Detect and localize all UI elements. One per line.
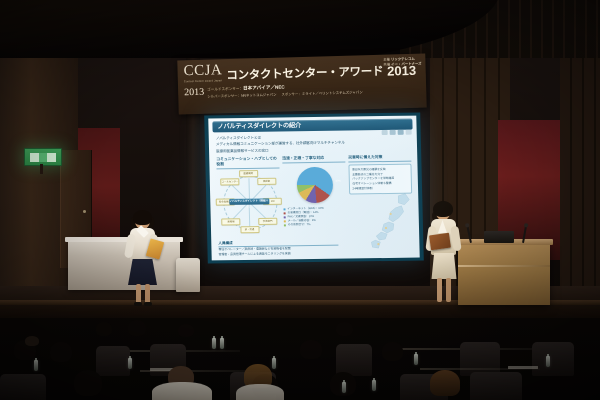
column-heading-chart: 迅速・正確・丁寧な対応 — [282, 155, 345, 163]
hub-node: 薬剤部 — [257, 178, 276, 186]
pie-chart-circle — [296, 167, 333, 203]
presenter-left — [122, 212, 166, 308]
leg-left — [136, 284, 141, 304]
banner-year-small: 2013 — [184, 88, 204, 99]
audience-head-lit — [25, 336, 39, 346]
audience-head — [382, 342, 403, 361]
audience-white-shirt — [152, 382, 212, 400]
slide-lead-text: ノバルティスダイレクトとは メディカル情報コミュニケーション部が運営する、社外顧… — [216, 133, 411, 155]
banner-ccja-subtitle: Contact Center Award Japan — [184, 79, 223, 83]
hub-node: 学術部門 — [258, 218, 277, 226]
column-heading-disaster: 災害時に備えた対策 — [348, 154, 411, 162]
slide-icon-row — [382, 130, 412, 135]
hair — [433, 201, 453, 217]
column-heading-hub: コミュニケーション・ハブとしての役割 — [216, 156, 279, 169]
banner-ccja-logo: CCJA — [183, 63, 222, 79]
water-bottle — [414, 354, 418, 365]
water-bottle — [128, 358, 132, 369]
pie-chart: 60% — [282, 164, 346, 205]
ceiling — [0, 0, 600, 62]
supporter-label-0: 主催 — [383, 58, 390, 62]
exit-sign-mount — [40, 164, 43, 174]
phone-icon — [398, 130, 404, 135]
sponsor-value-1: NNネットコムジャパン — [241, 92, 277, 97]
audience-head — [336, 322, 353, 336]
presenter-right — [424, 202, 468, 306]
hair — [133, 210, 152, 225]
water-bottle — [272, 358, 276, 369]
legend-swatch — [284, 216, 286, 218]
supporter-value-1: イー・パートナーズ — [391, 62, 421, 67]
audience-head — [128, 320, 146, 336]
person-icon — [382, 130, 388, 135]
leg-left — [437, 278, 442, 302]
bottom-line-1: 管理者・品質管理チームによる通話モニタリングを実施 — [219, 251, 339, 258]
handout — [508, 366, 538, 369]
podium-trim — [458, 265, 550, 267]
projection-screen-frame: ノバルティスダイレクトの紹介 ノバルティスダイレクトとは メディカル情報コミュニ… — [204, 113, 424, 264]
audience-area — [0, 318, 600, 400]
auditorium-photo: CCJA Contact Center Award Japan コンタクトセンタ… — [0, 0, 600, 400]
globe-icon — [406, 130, 412, 135]
skirt — [431, 253, 457, 279]
audience-head — [300, 340, 322, 359]
callout-line-4: 24時間受付体制 — [352, 186, 408, 192]
leg-right — [145, 284, 150, 304]
supporter-value-0: リックテレコム — [391, 57, 415, 62]
podium — [458, 243, 550, 305]
audience-hair — [430, 370, 460, 396]
held-folder — [429, 233, 451, 251]
microphone-head — [524, 223, 528, 228]
water-bottle — [212, 338, 216, 349]
shoe-right — [144, 302, 152, 306]
hub-node: 卸・流通 — [240, 226, 259, 234]
sponsor-label-1: シルバースポンサー： — [207, 93, 241, 98]
legend-label: その他問合せ：7% — [288, 223, 311, 227]
legend-swatch — [284, 212, 286, 214]
stage-chair — [176, 258, 200, 292]
water-bottle — [220, 338, 224, 349]
legend-swatch — [283, 208, 285, 210]
supporter-label-1: 共催 — [383, 63, 390, 67]
seat — [460, 342, 500, 376]
pie-main-label: 60% — [336, 179, 341, 182]
leg-right — [446, 278, 451, 302]
podium-equipment-box — [484, 231, 514, 243]
water-bottle — [546, 356, 550, 367]
shoe-left — [134, 302, 142, 306]
pie-main-value: 60% — [336, 179, 341, 182]
legend-swatch — [284, 224, 286, 226]
audience-head — [96, 322, 112, 336]
exit-sign-glyph — [30, 153, 56, 162]
sponsor-label-2: スポンサー： — [281, 92, 301, 97]
hub-center-label: ノバルティスダイレクト（情報ハブ） — [229, 198, 269, 205]
slide-column-chart: 迅速・正確・丁寧な対応 60% インターネット（Web）：60%お客様窓口（電話… — [282, 155, 347, 232]
audience-head — [74, 370, 102, 396]
projection-screen: ノバルティスダイレクトの紹介 ノバルティスダイレクトとは メディカル情報コミュニ… — [208, 116, 419, 261]
hub-node: 医療機関 — [239, 170, 258, 178]
document-icon — [390, 130, 396, 135]
legend-item: その他問合せ：7% — [284, 223, 347, 228]
exit-sign — [24, 148, 62, 166]
slide-bottom-section: 人員構成 専任オペレーター／薬剤師・看護師など有資格者を配置 管理者・品質管理チ… — [218, 239, 338, 257]
japan-map-icon — [368, 192, 414, 255]
wall-wood-far-right — [560, 58, 600, 320]
skirt — [128, 259, 157, 285]
sponsor-value-2: ミライト／ベリントシステムズジャパン — [302, 90, 363, 96]
seat — [96, 346, 130, 376]
sponsor-value-0: 日本アバイア／NEC — [243, 84, 285, 90]
water-bottle — [372, 380, 376, 391]
water-bottle — [34, 360, 38, 371]
seat — [0, 374, 46, 400]
seat — [532, 342, 574, 376]
hub-spoke-diagram: 医療機関 薬剤部 MR 学術部門 卸・流通 患者様 安全性情報 コールセンター … — [217, 170, 282, 233]
sponsor-label-0: ゴールドスポンサー： — [207, 87, 243, 92]
audience-head — [50, 342, 72, 362]
hub-node: コールセンター — [220, 178, 239, 186]
legend-swatch — [284, 220, 286, 222]
event-banner: CCJA Contact Center Award Japan コンタクトセンタ… — [177, 54, 426, 115]
presentation-slide: ノバルティスダイレクトの紹介 ノバルティスダイレクトとは メディカル情報コミュニ… — [208, 116, 419, 261]
pie-chart-legend: インターネット（Web）：60%お客様窓口（電話）：14%FAX／文書照会：10… — [283, 206, 346, 227]
water-bottle — [342, 382, 346, 393]
hub-node: 患者様 — [221, 218, 240, 226]
banner-title: コンタクトセンター・アワード — [226, 66, 383, 82]
door-knob — [83, 210, 86, 213]
seat — [470, 372, 522, 400]
audience-head — [178, 324, 194, 337]
slide-column-hub: コミュニケーション・ハブとしての役割 医療機関 — [216, 156, 281, 233]
audience-white-top — [236, 384, 284, 400]
disaster-callout: 東日本大震災の経験を反映 主要拠点の二重化を完了 バックアップセンターを常時運用… — [348, 163, 412, 194]
banner-supporters: 主催 リックテレコム 共催 イー・パートナーズ — [383, 57, 421, 68]
